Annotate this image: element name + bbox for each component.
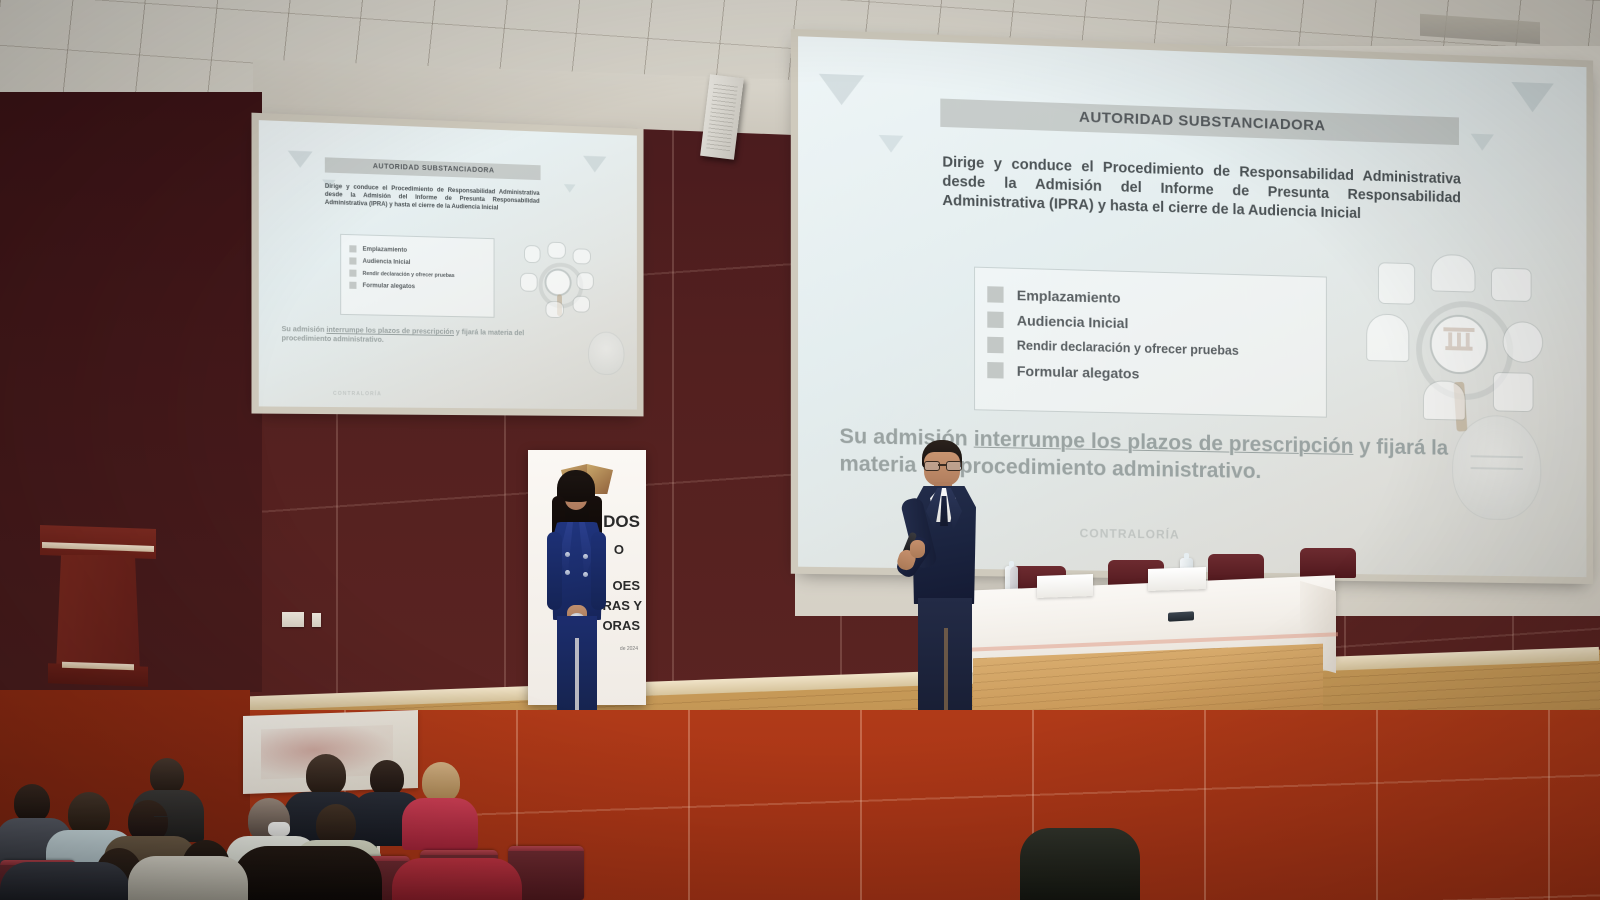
audience-silhouette <box>232 846 382 900</box>
audience-seat-edge <box>508 846 584 851</box>
courthouse-column-icon <box>1448 332 1452 346</box>
triangle-decor-icon <box>819 74 864 106</box>
slide-bullet-box: Emplazamiento Audiencia Inicial Rendir d… <box>341 235 493 317</box>
audience-silhouette <box>1020 828 1140 900</box>
slide-logo: CONTRALORÍA <box>333 391 382 398</box>
courthouse-roof-icon <box>1443 327 1474 332</box>
bullet-square-icon <box>987 311 1003 328</box>
podium <box>48 527 148 687</box>
icon-cluster-small <box>513 242 602 323</box>
courthouse-column-icon <box>1457 333 1461 347</box>
audience-shoulders <box>402 798 478 850</box>
courthouse-column-icon <box>1466 333 1470 347</box>
slide-small: AUTORIDAD SUBSTANCIADORA Dirige y conduc… <box>259 120 637 409</box>
bullet-label: Formular alegatos <box>363 282 415 289</box>
light-switch[interactable] <box>312 613 321 627</box>
bullet-label: Audiencia Inicial <box>363 258 411 265</box>
speaker-grill <box>706 83 738 151</box>
bullet-label: Emplazamiento <box>363 246 407 253</box>
footer-underlined: interrumpe los plazos de prescripción <box>326 327 454 336</box>
triangle-decor-icon <box>583 156 606 173</box>
glasses-bridge <box>938 464 946 466</box>
banner-footer: de 2024 <box>620 646 638 652</box>
footer-underlined: interrumpe los plazos de prescripción <box>974 427 1354 458</box>
courthouse-base-icon <box>1445 346 1472 351</box>
triangle-decor-icon <box>564 184 576 193</box>
arm-right <box>591 532 606 610</box>
bullet-square-icon <box>349 282 356 289</box>
audience-silhouette <box>0 862 130 900</box>
podium-body <box>56 555 140 671</box>
triangle-decor-icon <box>288 151 313 169</box>
glasses-icon <box>154 816 172 822</box>
list-item: Rendir declaración y ofrecer pruebas <box>987 337 1326 361</box>
glasses-icon <box>924 461 960 469</box>
button-icon <box>565 552 570 557</box>
audience-head <box>306 754 346 796</box>
triangle-decor-icon <box>1471 134 1494 152</box>
name-placard <box>1148 567 1206 591</box>
bullet-square-icon <box>987 362 1003 379</box>
button-icon <box>565 570 570 575</box>
briefcase-icon <box>574 249 590 263</box>
bullet-square-icon <box>987 337 1003 354</box>
document-sign-icon <box>1494 373 1533 411</box>
list-item: Formular alegatos <box>349 282 493 292</box>
document-sign-icon <box>574 297 589 312</box>
shield-icon <box>521 274 537 291</box>
audience-silhouette <box>128 856 248 900</box>
auditorium-photo: AUTORIDAD SUBSTANCIADORA Dirige y conduc… <box>0 0 1600 900</box>
glasses-lens-right <box>946 461 962 471</box>
bullet-square-icon <box>349 257 356 264</box>
slide-seal-watermark-icon <box>1453 415 1540 519</box>
glasses-lens-left <box>924 461 940 471</box>
banner-line-2: O <box>614 542 624 557</box>
host-woman <box>543 470 609 720</box>
bullet-label: Audiencia Inicial <box>1017 312 1129 331</box>
list-item: Emplazamiento <box>349 245 493 256</box>
bullet-label: Emplazamiento <box>1017 287 1121 306</box>
placard-label <box>1037 581 1093 583</box>
list-item: Audiencia Inicial <box>349 257 493 268</box>
face-mask-icon <box>268 822 290 836</box>
bullet-label: Rendir declaración y ofrecer pruebas <box>363 270 455 278</box>
audience-silhouette <box>392 858 522 900</box>
list-item: Formular alegatos <box>987 362 1326 386</box>
bullet-label: Formular alegatos <box>1017 363 1140 382</box>
button-icon <box>583 572 588 577</box>
slide-bullet-box: Emplazamiento Audiencia Inicial Rendir d… <box>975 268 1326 417</box>
chair-back <box>1300 548 1356 578</box>
icon-cluster-main <box>1359 253 1558 441</box>
magnifier-icon <box>1432 316 1486 373</box>
handshake-icon <box>577 273 592 289</box>
audience-head <box>14 784 50 822</box>
banner-line-3: OES <box>613 578 640 593</box>
triangle-decor-icon <box>1511 82 1553 113</box>
scales-icon <box>1424 381 1465 419</box>
hand-gesture <box>910 540 925 558</box>
seal-line <box>1471 455 1523 458</box>
triangle-decor-icon <box>879 135 904 153</box>
list-item: Rendir declaración y ofrecer pruebas <box>349 270 493 280</box>
scales-icon <box>546 302 563 317</box>
gavel-bench-icon <box>548 243 564 258</box>
footer-text-1: Su admisión <box>282 326 327 334</box>
seal-line <box>1471 467 1523 470</box>
slide-seal-watermark-icon <box>589 332 624 374</box>
audience-head <box>370 760 404 796</box>
bullet-square-icon <box>349 245 356 252</box>
projection-screen-small: AUTORIDAD SUBSTANCIADORA Dirige y conduc… <box>259 120 637 409</box>
briefcase-icon <box>1492 268 1531 301</box>
presenter-man <box>900 440 992 740</box>
button-icon <box>583 554 588 559</box>
audience-head <box>150 758 184 794</box>
audience-head <box>422 762 460 802</box>
leg-gap <box>575 638 579 712</box>
handshake-icon <box>1504 322 1543 362</box>
book-icon <box>525 246 540 262</box>
gavel-bench-icon <box>1432 255 1475 292</box>
list-item: Audiencia Inicial <box>987 311 1326 336</box>
phone-on-table <box>1168 611 1194 621</box>
magnifier-icon <box>546 270 569 294</box>
list-item: Emplazamiento <box>987 286 1326 311</box>
audience-seat-edge <box>420 850 498 855</box>
name-placard <box>1037 574 1093 598</box>
bullet-square-icon <box>349 270 356 277</box>
bullet-label: Rendir declaración y ofrecer pruebas <box>1017 338 1239 357</box>
book-icon <box>1379 263 1414 304</box>
shield-icon <box>1367 314 1408 361</box>
bullet-square-icon <box>987 286 1003 303</box>
wall-outlet-plate[interactable] <box>282 612 304 627</box>
slide-logo: CONTRALORÍA <box>1080 526 1180 542</box>
placard-label <box>1148 574 1206 576</box>
arm-left <box>547 532 562 610</box>
